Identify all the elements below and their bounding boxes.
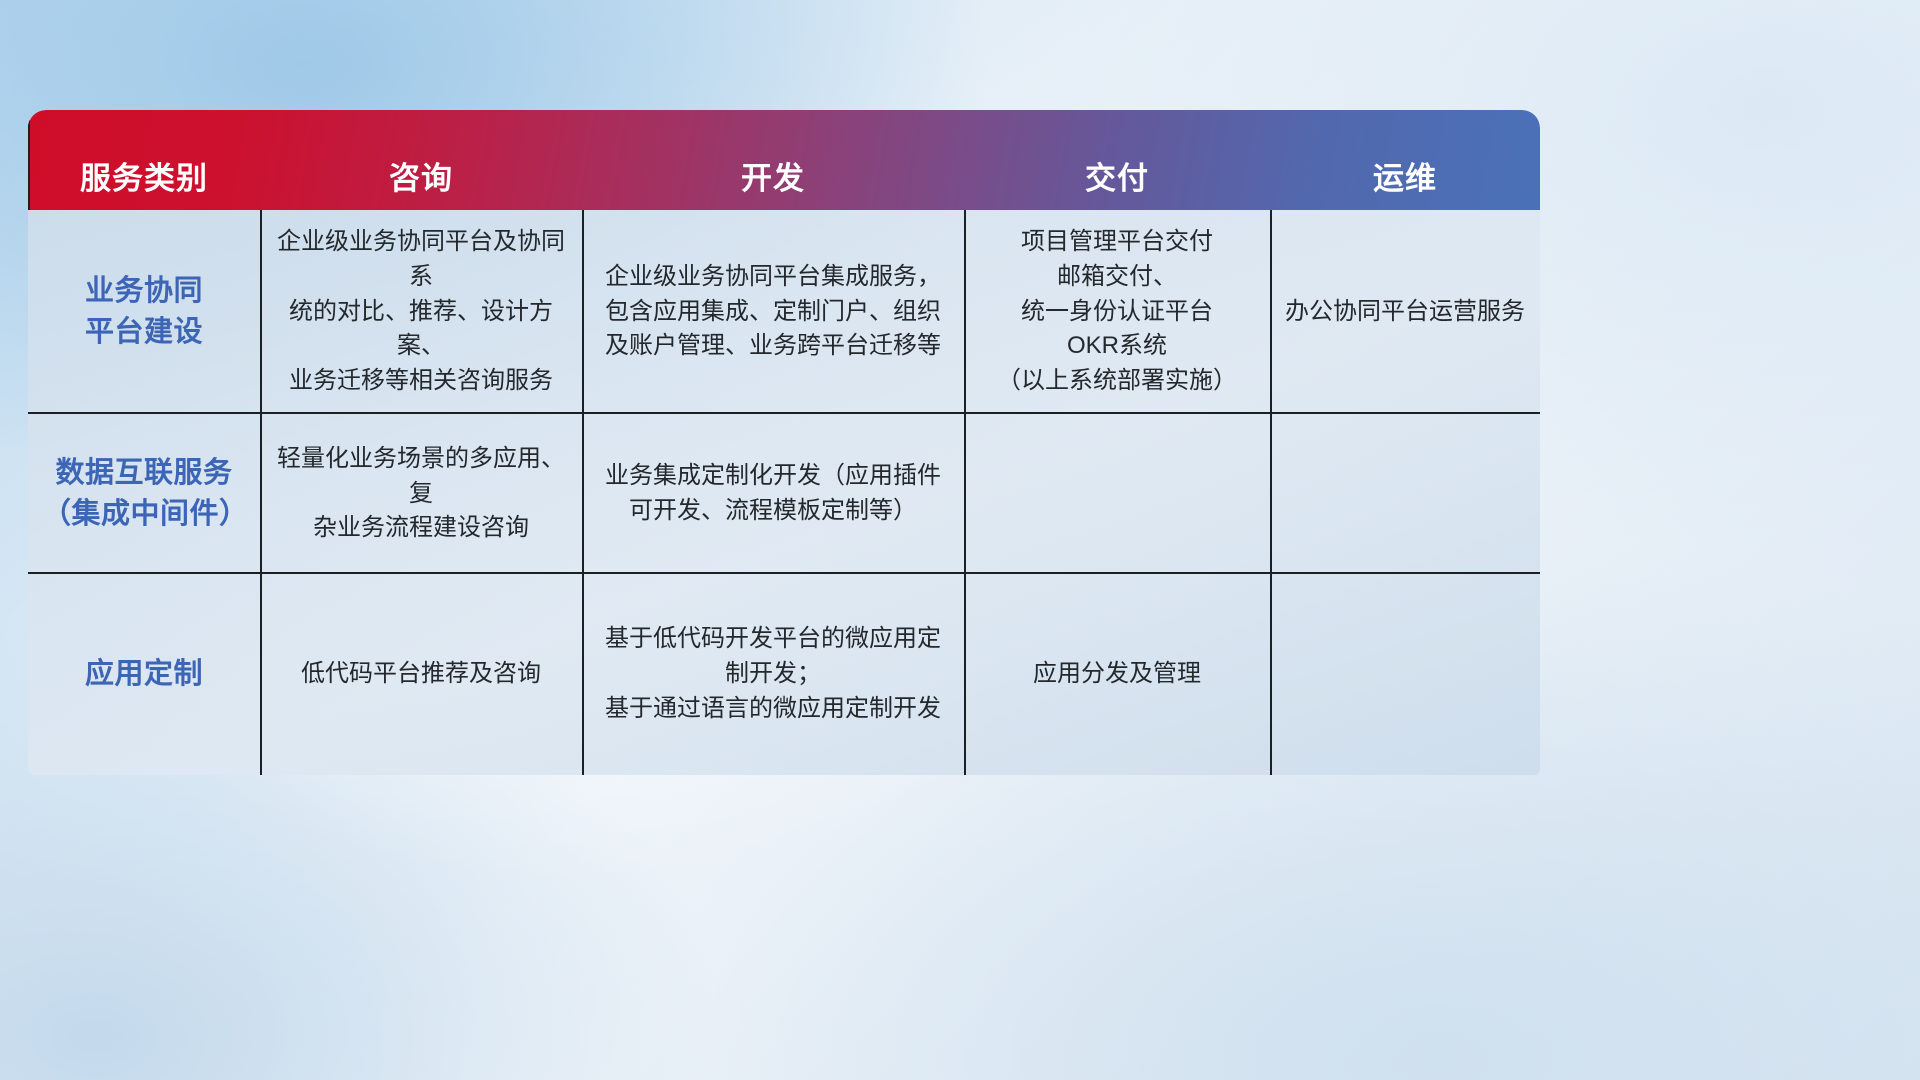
row-label-cell: 应用定制 — [28, 574, 260, 775]
cell-consulting: 企业级业务协同平台及协同系 统的对比、推荐、设计方案、 业务迁移等相关咨询服务 — [260, 210, 582, 414]
cell-development: 业务集成定制化开发（应用插件 可开发、流程模板定制等） — [582, 414, 964, 574]
cell-text: 轻量化业务场景的多应用、复 杂业务流程建设咨询 — [274, 442, 568, 546]
cell-text: 项目管理平台交付 邮箱交付、 统一身份认证平台 OKR系统 （以上系统部署实施） — [997, 225, 1237, 399]
cell-delivery — [964, 414, 1270, 574]
row-label-cell: 业务协同 平台建设 — [28, 210, 260, 414]
cell-text: 基于低代码开发平台的微应用定 制开发； 基于通过语言的微应用定制开发 — [605, 622, 941, 726]
cell-text: 办公协同平台运营服务 — [1285, 295, 1525, 330]
table-header-row: 服务类别 咨询 开发 交付 运维 — [28, 110, 1540, 210]
table-row: 数据互联服务 （集成中间件） 轻量化业务场景的多应用、复 杂业务流程建设咨询 业… — [28, 414, 1540, 574]
cell-operations — [1270, 414, 1540, 574]
cell-delivery: 项目管理平台交付 邮箱交付、 统一身份认证平台 OKR系统 （以上系统部署实施） — [964, 210, 1270, 414]
cell-text: 低代码平台推荐及咨询 — [301, 657, 541, 692]
cell-operations — [1270, 574, 1540, 775]
cell-operations: 办公协同平台运营服务 — [1270, 210, 1540, 414]
cell-development: 基于低代码开发平台的微应用定 制开发； 基于通过语言的微应用定制开发 — [582, 574, 964, 775]
cell-text: 应用分发及管理 — [1033, 657, 1201, 692]
service-matrix-table: 服务类别 咨询 开发 交付 运维 业务协同 平台建设 企业级业务协同平台及协同系… — [28, 110, 1540, 775]
table-row: 应用定制 低代码平台推荐及咨询 基于低代码开发平台的微应用定 制开发； 基于通过… — [28, 574, 1540, 775]
page-canvas: 服务类别 咨询 开发 交付 运维 业务协同 平台建设 企业级业务协同平台及协同系… — [0, 0, 1920, 1080]
cell-delivery: 应用分发及管理 — [964, 574, 1270, 775]
cell-development: 企业级业务协同平台集成服务， 包含应用集成、定制门户、组织 及账户管理、业务跨平… — [582, 210, 964, 414]
column-header-consulting: 咨询 — [260, 163, 582, 194]
table-row: 业务协同 平台建设 企业级业务协同平台及协同系 统的对比、推荐、设计方案、 业务… — [28, 210, 1540, 414]
column-header-development: 开发 — [582, 163, 964, 194]
row-label-cell: 数据互联服务 （集成中间件） — [28, 414, 260, 574]
column-header-category: 服务类别 — [28, 163, 260, 194]
column-header-operations: 运维 — [1270, 163, 1540, 194]
cell-consulting: 轻量化业务场景的多应用、复 杂业务流程建设咨询 — [260, 414, 582, 574]
cell-text: 企业级业务协同平台集成服务， 包含应用集成、定制门户、组织 及账户管理、业务跨平… — [605, 260, 941, 364]
cell-consulting: 低代码平台推荐及咨询 — [260, 574, 582, 775]
row-label-text: 业务协同 平台建设 — [85, 271, 203, 353]
row-label-text: 应用定制 — [85, 654, 203, 695]
cell-text: 企业级业务协同平台及协同系 统的对比、推荐、设计方案、 业务迁移等相关咨询服务 — [274, 225, 568, 399]
column-header-delivery: 交付 — [964, 163, 1270, 194]
cell-text: 业务集成定制化开发（应用插件 可开发、流程模板定制等） — [605, 459, 941, 529]
row-label-text: 数据互联服务 （集成中间件） — [42, 453, 246, 535]
table-body: 业务协同 平台建设 企业级业务协同平台及协同系 统的对比、推荐、设计方案、 业务… — [28, 210, 1540, 775]
